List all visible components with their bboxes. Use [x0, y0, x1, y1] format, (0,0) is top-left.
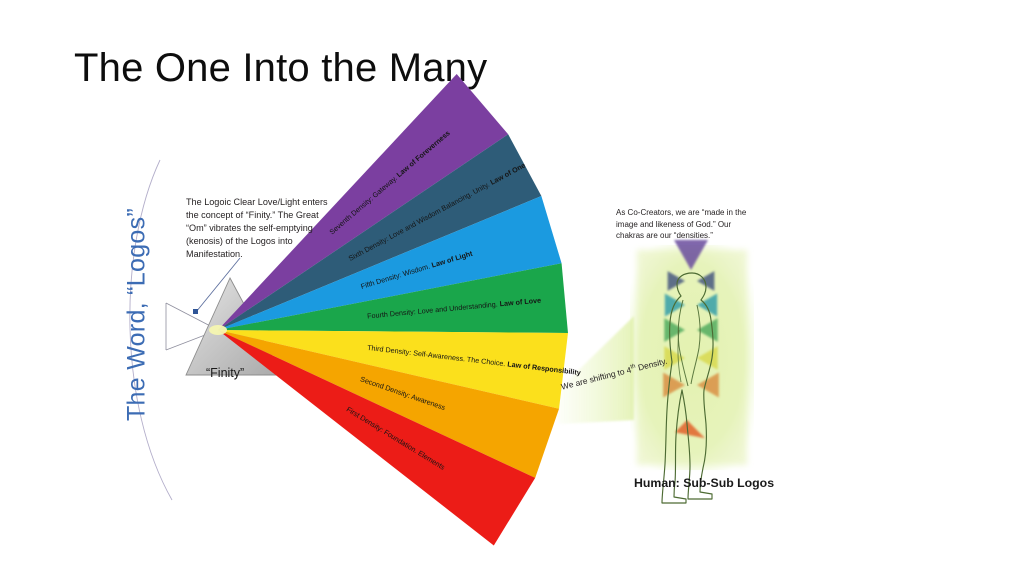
slide: The One Into the Many	[0, 0, 1024, 575]
prism-label: “Finity”	[206, 366, 244, 380]
logos-axis-label: The Word, “Logos”	[123, 170, 152, 460]
logoic-paragraph: The Logoic Clear Love/Light enters the c…	[186, 196, 338, 261]
diagram-the-one-into-the-many: Seventh Density: Gateway. Law of Forever…	[0, 0, 1024, 575]
fan-apex-core	[209, 325, 227, 335]
cocreator-paragraph: As Co-Creators, we are “made in the imag…	[616, 207, 756, 242]
diagram-svg: Seventh Density: Gateway. Law of Forever…	[0, 0, 1024, 575]
human-glow-panel	[630, 245, 754, 470]
human-caption: Human: Sub-Sub Logos	[634, 476, 774, 490]
